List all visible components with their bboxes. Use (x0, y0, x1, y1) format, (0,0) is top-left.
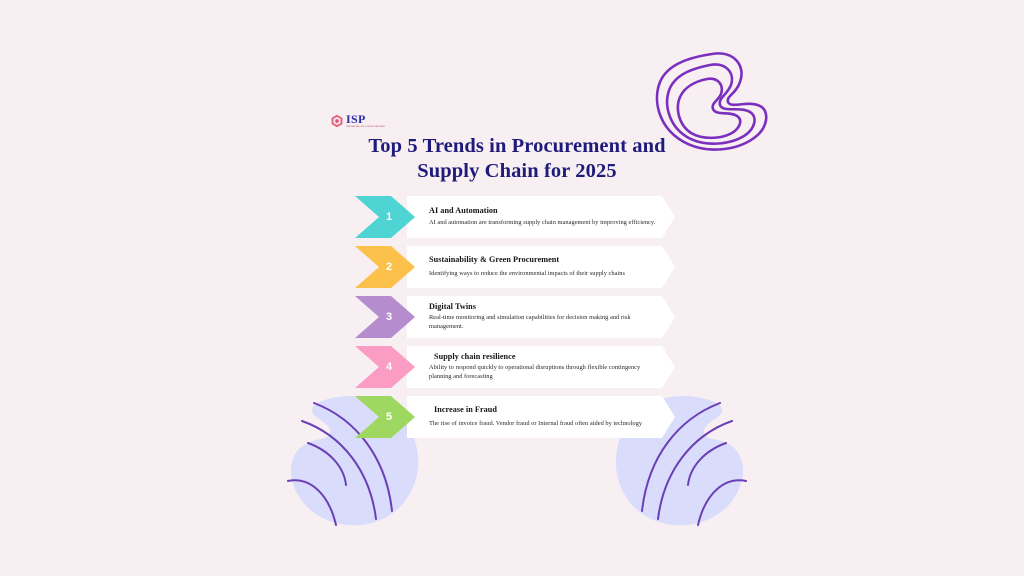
trend-chevron-3: 3 (355, 296, 415, 338)
infographic-canvas: ISP INNOVATIVE SOLUTIONS PARTNER Top 5 T… (0, 0, 1024, 576)
trend-row-5[interactable]: 5 Increase in Fraud The rise of invoice … (355, 396, 675, 438)
trend-chevron-1: 1 (355, 196, 415, 238)
trends-list: 1 AI and Automation AI and automation ar… (355, 196, 675, 446)
page-title: Top 5 Trends in Procurement and Supply C… (352, 134, 682, 184)
trend-description-5: The rise of invoice fraud. Vendor fraud … (429, 420, 657, 429)
trend-text-1: AI and Automation AI and automation are … (429, 196, 657, 238)
trend-chevron-2: 2 (355, 246, 415, 288)
isp-wordmark: ISP INNOVATIVE SOLUTIONS PARTNER (346, 113, 389, 128)
trend-heading-5: Increase in Fraud (429, 405, 657, 415)
isp-hexagon-mark-icon (330, 114, 344, 128)
trend-chevron-4: 4 (355, 346, 415, 388)
trend-description-4: Ability to respond quickly to operationa… (429, 364, 657, 382)
trend-number-2: 2 (386, 261, 392, 273)
trend-heading-3: Digital Twins (429, 302, 657, 312)
trend-chevron-5: 5 (355, 396, 415, 438)
isp-logo[interactable]: ISP INNOVATIVE SOLUTIONS PARTNER (330, 110, 378, 132)
trend-row-4[interactable]: 4 Supply chain resilience Ability to res… (355, 346, 675, 388)
trend-text-3: Digital Twins Real-time monitoring and s… (429, 296, 657, 338)
trend-number-5: 5 (386, 411, 392, 423)
trend-description-1: AI and automation are transforming suppl… (429, 219, 657, 228)
trend-number-1: 1 (386, 211, 392, 223)
isp-wordmark-text: ISP (346, 113, 389, 125)
trend-row-1[interactable]: 1 AI and Automation AI and automation ar… (355, 196, 675, 238)
trend-heading-4: Supply chain resilience (429, 352, 657, 362)
trend-heading-2: Sustainability & Green Procurement (429, 255, 657, 265)
trend-row-3[interactable]: 3 Digital Twins Real-time monitoring and… (355, 296, 675, 338)
trend-number-3: 3 (386, 311, 392, 323)
page-title-line1: Top 5 Trends in Procurement and (352, 134, 682, 159)
trend-description-3: Real-time monitoring and simulation capa… (429, 314, 657, 332)
trend-number-4: 4 (386, 361, 392, 373)
trend-text-5: Increase in Fraud The rise of invoice fr… (429, 396, 657, 438)
trend-heading-1: AI and Automation (429, 206, 657, 216)
trend-row-2[interactable]: 2 Sustainability & Green Procurement Ide… (355, 246, 675, 288)
page-title-line2: Supply Chain for 2025 (352, 159, 682, 184)
isp-tagline: INNOVATIVE SOLUTIONS PARTNER (346, 126, 385, 128)
trend-description-2: Identifying ways to reduce the environme… (429, 270, 657, 279)
trend-text-4: Supply chain resilience Ability to respo… (429, 346, 657, 388)
trend-text-2: Sustainability & Green Procurement Ident… (429, 246, 657, 288)
